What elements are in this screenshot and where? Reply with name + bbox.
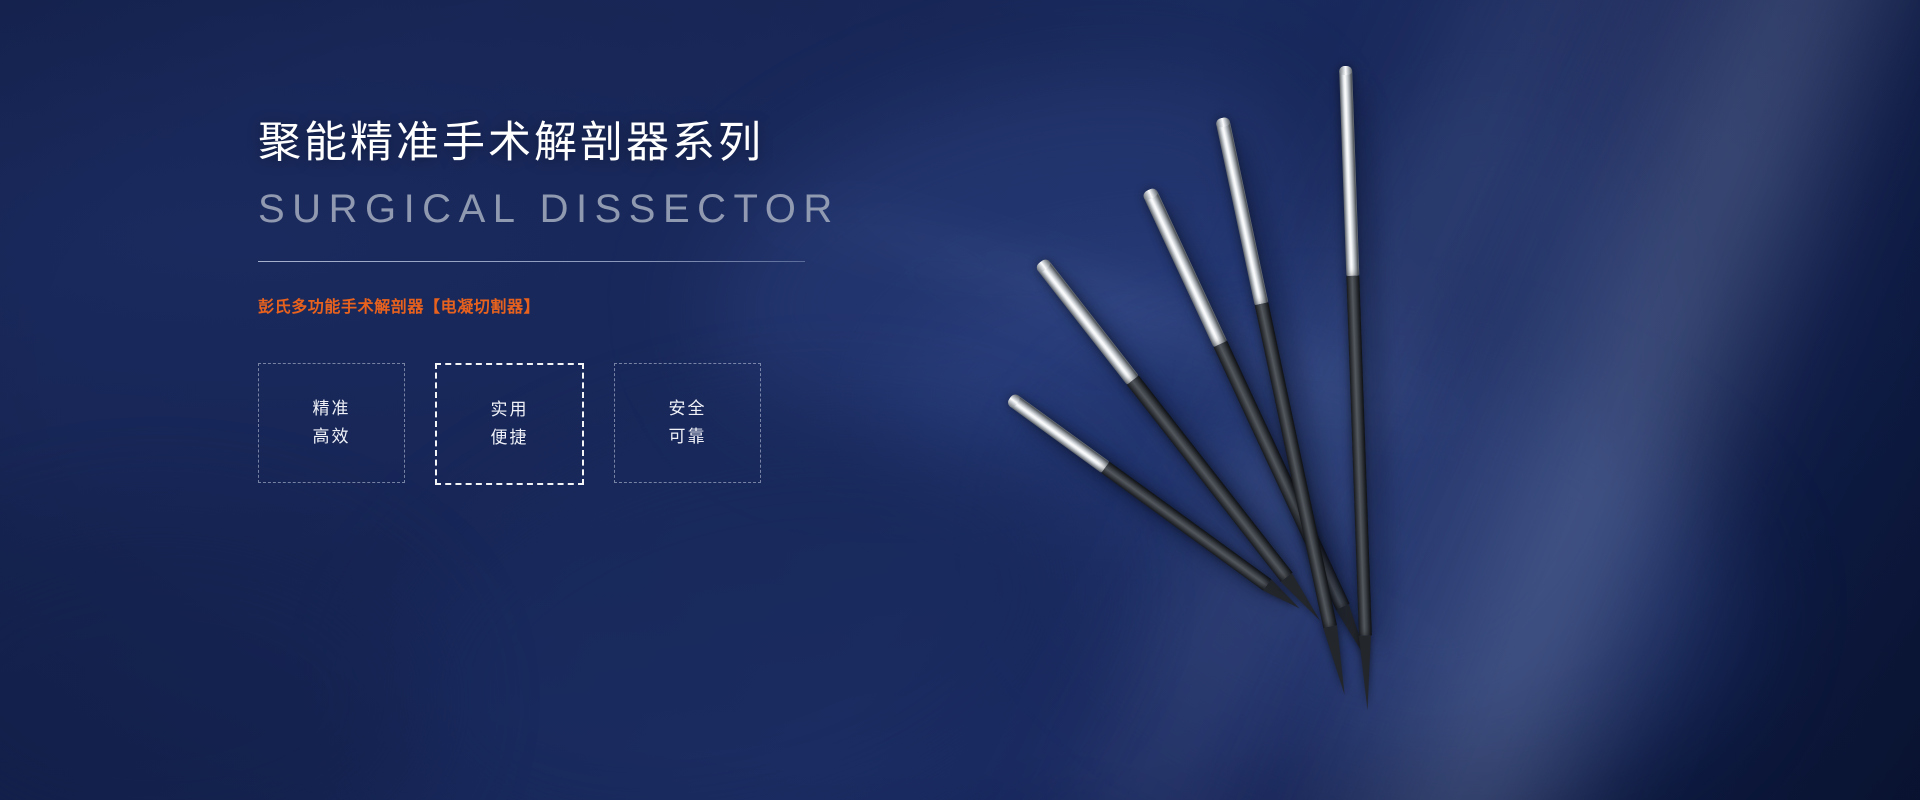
page-subtitle-english: SURGICAL DISSECTOR xyxy=(258,183,1018,235)
feature-line-1: 安全 xyxy=(669,395,707,423)
feature-line-1: 精准 xyxy=(313,395,351,423)
feature-line-1: 实用 xyxy=(491,396,529,424)
background-blur-shape xyxy=(0,520,440,800)
hero-text-block: 聚能精准手术解剖器系列 SURGICAL DISSECTOR 彭氏多功能手术解剖… xyxy=(258,118,1018,485)
hero-banner: 聚能精准手术解剖器系列 SURGICAL DISSECTOR 彭氏多功能手术解剖… xyxy=(0,0,1920,800)
divider xyxy=(258,261,805,262)
feature-line-2: 高效 xyxy=(313,423,351,451)
feature-box-safety: 安全 可靠 xyxy=(614,363,761,483)
feature-box-precision: 精准 高效 xyxy=(258,363,405,483)
feature-box-practical: 实用 便捷 xyxy=(435,363,584,485)
feature-box-row: 精准 高效 实用 便捷 安全 可靠 xyxy=(258,363,1018,485)
feature-line-2: 便捷 xyxy=(491,424,529,452)
page-title: 聚能精准手术解剖器系列 xyxy=(258,118,1018,169)
feature-line-2: 可靠 xyxy=(669,423,707,451)
product-name-highlight: 彭氏多功能手术解剖器【电凝切割器】 xyxy=(258,293,1018,317)
